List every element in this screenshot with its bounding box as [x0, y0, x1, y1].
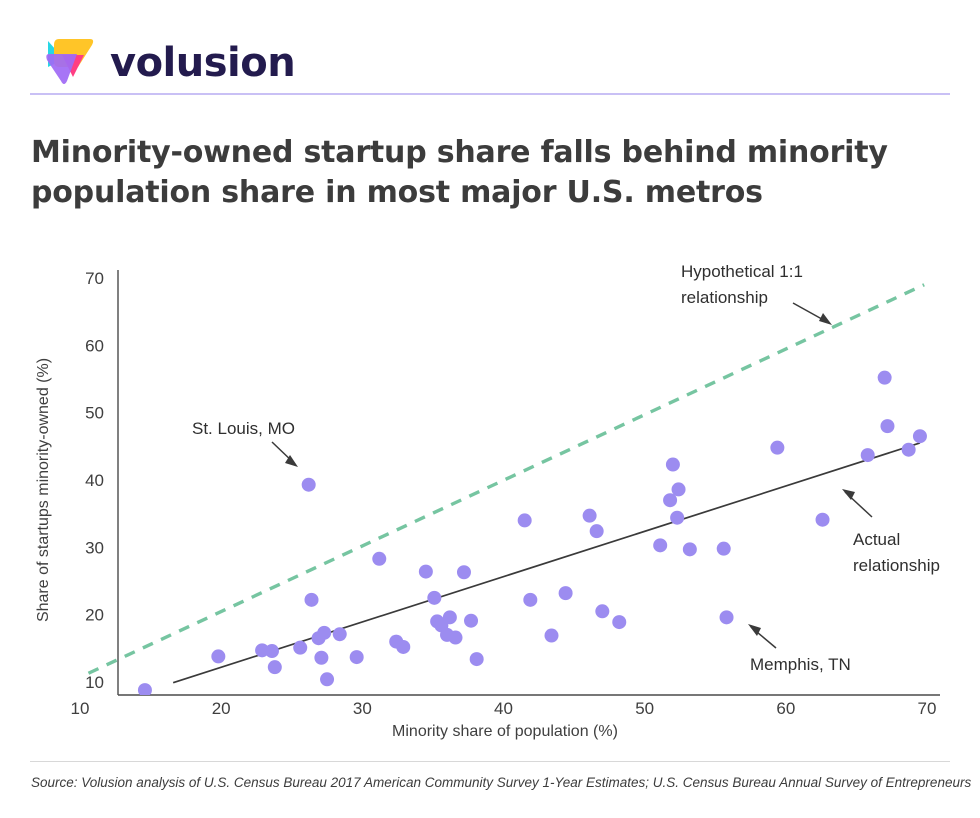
- data-point: [672, 482, 686, 496]
- data-point: [666, 458, 680, 472]
- data-point: [396, 640, 410, 654]
- data-point: [670, 511, 684, 525]
- annotation-memphis: Memphis, TN: [750, 655, 851, 674]
- x-tick-60: 60: [776, 699, 795, 718]
- annotation-hypothetical-line2: relationship: [681, 288, 768, 307]
- annotation-labels: Hypothetical 1:1 relationship St. Louis,…: [192, 262, 940, 674]
- x-axis-title: Minority share of population (%): [392, 723, 618, 740]
- data-point: [880, 419, 894, 433]
- data-point: [314, 651, 328, 665]
- x-tick-40: 40: [494, 699, 513, 718]
- data-point: [372, 552, 386, 566]
- arrow-hypothetical-head: [819, 313, 832, 325]
- y-tick-60: 60: [85, 336, 104, 355]
- y-tick-20: 20: [85, 606, 104, 625]
- data-point: [612, 615, 626, 629]
- data-point: [518, 513, 532, 527]
- data-point: [443, 610, 457, 624]
- arrow-actual-head: [842, 489, 855, 500]
- data-point: [268, 660, 282, 674]
- x-tick-50: 50: [635, 699, 654, 718]
- source-divider: [30, 761, 950, 762]
- x-tick-30: 30: [353, 699, 372, 718]
- data-point: [595, 604, 609, 618]
- x-tick-70: 70: [918, 699, 937, 718]
- annotation-hypothetical-line1: Hypothetical 1:1: [681, 262, 803, 281]
- scatter-plot: 10203040506070 10203040506070 Share of s…: [0, 0, 980, 818]
- data-point: [720, 610, 734, 624]
- data-point: [427, 591, 441, 605]
- annotation-actual-line2: relationship: [853, 556, 940, 575]
- data-point: [457, 565, 471, 579]
- data-point: [419, 565, 433, 579]
- data-point: [265, 644, 279, 658]
- data-point: [878, 371, 892, 385]
- data-point: [211, 649, 225, 663]
- data-point: [717, 542, 731, 556]
- reference-lines: [88, 285, 924, 683]
- annotation-actual-line1: Actual: [853, 530, 900, 549]
- y-tick-30: 30: [85, 538, 104, 557]
- y-tick-50: 50: [85, 404, 104, 423]
- data-point: [902, 443, 916, 457]
- x-tick-10: 10: [71, 699, 90, 718]
- data-point: [816, 513, 830, 527]
- x-tick-20: 20: [212, 699, 231, 718]
- annotation-st-louis: St. Louis, MO: [192, 419, 295, 438]
- data-point: [320, 672, 334, 686]
- data-point: [559, 586, 573, 600]
- data-point: [302, 478, 316, 492]
- data-point: [683, 542, 697, 556]
- y-tick-40: 40: [85, 471, 104, 490]
- data-point: [317, 626, 331, 640]
- data-point: [653, 538, 667, 552]
- data-point: [470, 652, 484, 666]
- data-point: [333, 627, 347, 641]
- line-actual-trend: [173, 443, 920, 683]
- y-tick-10: 10: [85, 673, 104, 692]
- data-point: [523, 593, 537, 607]
- data-point: [590, 524, 604, 538]
- data-point: [350, 650, 364, 664]
- data-point: [861, 448, 875, 462]
- data-point: [770, 441, 784, 455]
- data-point: [913, 429, 927, 443]
- data-point: [449, 631, 463, 645]
- data-point: [138, 683, 152, 697]
- data-point: [305, 593, 319, 607]
- data-point: [464, 614, 478, 628]
- y-axis-title: Share of startups minority-owned (%): [35, 358, 52, 622]
- y-tick-70: 70: [85, 269, 104, 288]
- line-hypothetical-1to1: [88, 285, 924, 674]
- source-note: Source: Volusion analysis of U.S. Census…: [31, 775, 966, 790]
- data-point: [544, 629, 558, 643]
- annotation-arrows: [272, 303, 872, 648]
- data-point: [293, 641, 307, 655]
- x-axis-tick-labels: 10203040506070: [71, 699, 937, 718]
- y-axis-tick-labels: 10203040506070: [85, 269, 104, 692]
- data-point: [583, 509, 597, 523]
